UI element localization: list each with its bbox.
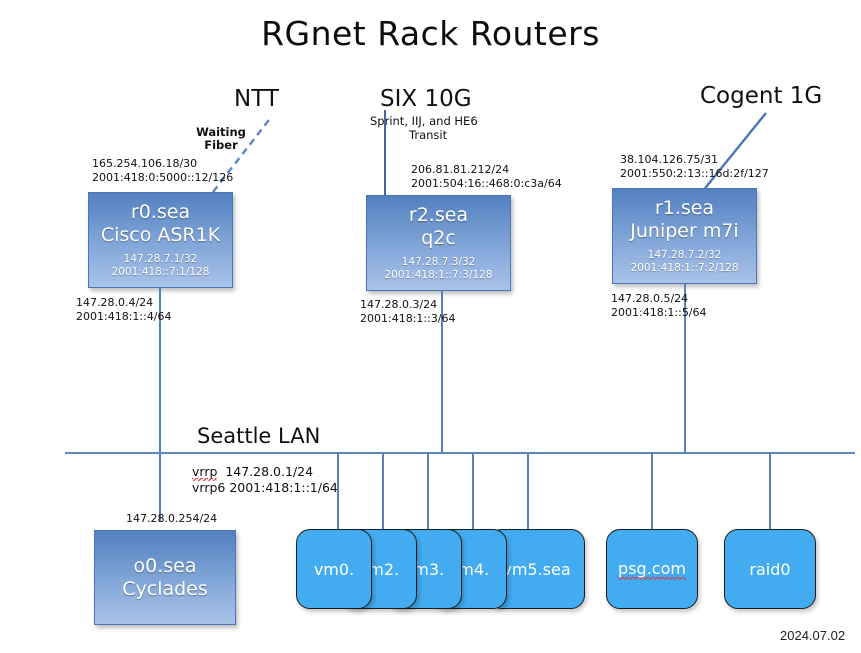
r0-lan-ip-v4: 147.28.0.4/24	[76, 296, 172, 310]
router-box-r2[interactable]: r2.sea q2c 147.28.7.3/32 2001:418:1::7:3…	[366, 195, 511, 291]
host-label-vm5: vm5.sea	[502, 560, 570, 579]
r0-uplink-ip: 165.254.106.18/30 2001:418:0:5000::12/12…	[92, 157, 233, 185]
psg-drop-line	[651, 452, 653, 529]
page-title: RGnet Rack Routers	[0, 14, 861, 53]
vrrp-keyword: vrrp	[192, 464, 217, 481]
r0-loopback-v6: 2001:418::7:1/128	[112, 266, 210, 279]
r2-uplink-ip: 206.81.81.212/24 2001:504:16::468:0:c3a/…	[411, 163, 562, 191]
vm0-drop-line	[337, 452, 339, 529]
r2-model: q2c	[421, 227, 456, 250]
r1-lan-ip: 147.28.0.5/24 2001:418:1::5/64	[611, 292, 707, 320]
six-sub-line2: Transit	[409, 128, 447, 142]
r1-loopback-v6: 2001:418:1::7:2/128	[630, 262, 738, 275]
r2-uplink-ip-v4: 206.81.81.212/24	[411, 163, 562, 177]
r2-lan-ip-v4: 147.28.0.3/24	[360, 298, 456, 312]
vrrp-v4-address: 147.28.0.1/24	[217, 464, 313, 479]
r1-uplink-ip-v4: 38.104.126.75/31	[620, 153, 769, 167]
r1-loopback-v4: 147.28.7.2/32	[648, 249, 722, 262]
vm2-drop-line	[382, 452, 384, 529]
r1-lan-ip-v4: 147.28.0.5/24	[611, 292, 707, 306]
r0-loopback-v4: 147.28.7.1/32	[124, 253, 198, 266]
vrrp-v6-line: vrrp6 2001:418:1::1/64	[192, 480, 338, 496]
r1-name: r1.sea	[655, 197, 714, 220]
console-model: Cyclades	[122, 578, 208, 601]
r0-uplink-ip-v6: 2001:418:0:5000::12/126	[92, 171, 233, 185]
host-label-vm0: vm0.	[314, 560, 354, 579]
vm3-drop-line	[427, 452, 429, 529]
r0-lan-ip-v6: 2001:418:1::4/64	[76, 310, 172, 324]
seattle-lan-label: Seattle LAN	[197, 424, 320, 448]
r2-loopback-v6: 2001:418:1::7:3/128	[384, 269, 492, 282]
six-sub-line1: Sprint, IIJ, and HE6	[370, 114, 478, 128]
console-box-o0[interactable]: o0.sea Cyclades	[94, 530, 236, 625]
vm4-drop-line	[472, 452, 474, 529]
ntt-note-line2: Fiber	[190, 139, 252, 152]
r2-lan-ip-v6: 2001:418:1::3/64	[360, 312, 456, 326]
router-box-r1[interactable]: r1.sea Juniper m7i 147.28.7.2/32 2001:41…	[612, 188, 757, 284]
r2-uplink-ip-v6: 2001:504:16::468:0:c3a/64	[411, 177, 562, 191]
router-box-r0[interactable]: r0.sea Cisco ASR1K 147.28.7.1/32 2001:41…	[88, 192, 233, 288]
date-stamp: 2024.07.02	[780, 628, 845, 643]
r1-model: Juniper m7i	[630, 220, 738, 243]
host-box-raid0[interactable]: raid0	[724, 529, 816, 609]
r0-name: r0.sea	[131, 201, 190, 224]
uplink-label-six: SIX 10G	[380, 86, 472, 112]
vm5-drop-line	[527, 452, 529, 529]
seattle-lan-bus	[65, 452, 855, 454]
r2-loopback-v4: 147.28.7.3/32	[402, 256, 476, 269]
r0-model: Cisco ASR1K	[101, 224, 220, 247]
r1-uplink-ip: 38.104.126.75/31 2001:550:2:13::16d:2f/1…	[620, 153, 769, 181]
r0-uplink-ip-v4: 165.254.106.18/30	[92, 157, 233, 171]
console-name: o0.sea	[134, 555, 197, 578]
vrrp-v4-line: vrrp 147.28.0.1/24	[192, 464, 338, 480]
r1-uplink-ip-v6: 2001:550:2:13::16d:2f/127	[620, 167, 769, 181]
host-label-psg: psg.com	[618, 559, 686, 580]
host-box-vm0[interactable]: vm0.	[296, 529, 372, 609]
r0-lan-ip: 147.28.0.4/24 2001:418:1::4/64	[76, 296, 172, 324]
console-ip: 147.28.0.254/24	[126, 512, 217, 526]
vrrp-info: vrrp 147.28.0.1/24 vrrp6 2001:418:1::1/6…	[192, 464, 338, 496]
six-uplink-line	[384, 110, 386, 195]
uplink-label-cogent: Cogent 1G	[700, 83, 822, 109]
network-diagram: RGnet Rack Routers NTT Waiting Fiber SIX…	[0, 0, 861, 653]
host-box-psg[interactable]: psg.com	[606, 529, 698, 609]
r2-name: r2.sea	[409, 204, 468, 227]
host-label-raid0: raid0	[749, 560, 790, 579]
raid0-drop-line	[769, 452, 771, 529]
uplink-label-ntt: NTT	[234, 86, 279, 112]
ntt-waiting-fiber-note: Waiting Fiber	[190, 126, 252, 152]
r2-lan-ip: 147.28.0.3/24 2001:418:1::3/64	[360, 298, 456, 326]
r1-lan-ip-v6: 2001:418:1::5/64	[611, 306, 707, 320]
